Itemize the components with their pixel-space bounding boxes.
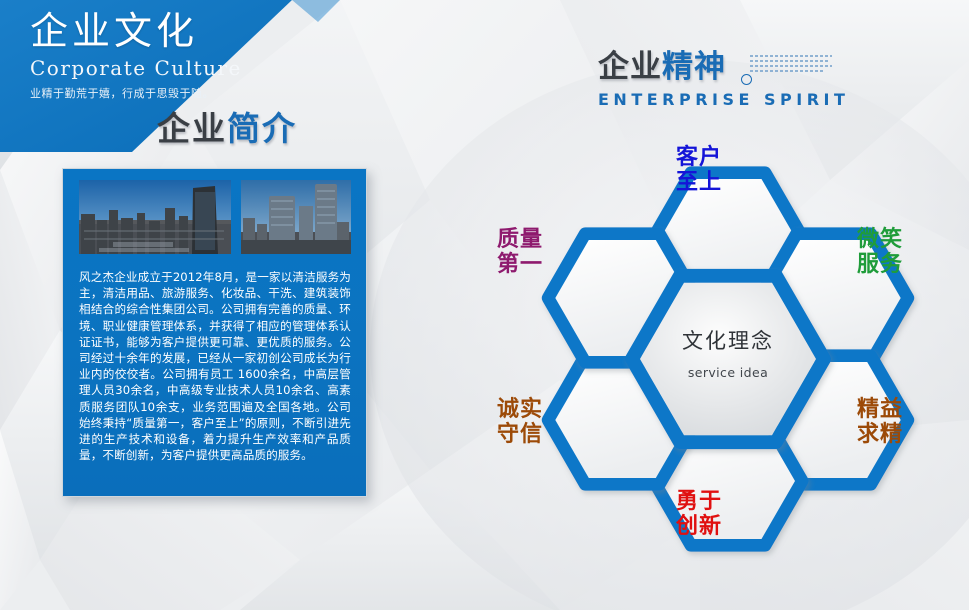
banner-title-cn: 企业文化 bbox=[30, 10, 310, 54]
photo-row bbox=[79, 180, 351, 254]
banner-title-en: Corporate Culture bbox=[30, 56, 310, 80]
hexagon-graphic bbox=[487, 108, 969, 610]
spirit-heading-dark: 企业 bbox=[598, 49, 662, 85]
skyscraper-photo bbox=[241, 180, 351, 254]
intro-heading-dark: 企业 bbox=[157, 109, 227, 148]
decorative-circle-icon bbox=[741, 74, 752, 85]
company-intro-text: 风之杰企业成立于2012年8月，是一家以清洁服务为主，清洁用品、旅游服务、化妆品… bbox=[79, 269, 351, 463]
slide-canvas: 企业文化 Corporate Culture 业精于勤荒于嬉，行成于思毁于随。 … bbox=[0, 0, 969, 610]
banner-subtitle: 业精于勤荒于嬉，行成于思毁于随。 bbox=[30, 85, 310, 101]
spirit-heading-en: ENTERPRISE SPIRIT bbox=[598, 90, 958, 109]
city-skyline-photo bbox=[79, 180, 231, 254]
spirit-heading: 企业精神 ENTERPRISE SPIRIT bbox=[598, 52, 958, 109]
spirit-heading-blue: 精神 bbox=[662, 49, 726, 85]
intro-heading-blue: 简介 bbox=[227, 109, 297, 148]
company-intro-card: 风之杰企业成立于2012年8月，是一家以清洁服务为主，清洁用品、旅游服务、化妆品… bbox=[62, 168, 367, 497]
culture-hexagon-diagram: 客户 至上 微笑 服务 精益 求精 勇于 创新 诚实 守信 质量 第一 文化理念… bbox=[487, 108, 969, 610]
intro-heading: 企业简介 bbox=[157, 112, 297, 145]
decorative-text-lines bbox=[750, 55, 832, 75]
